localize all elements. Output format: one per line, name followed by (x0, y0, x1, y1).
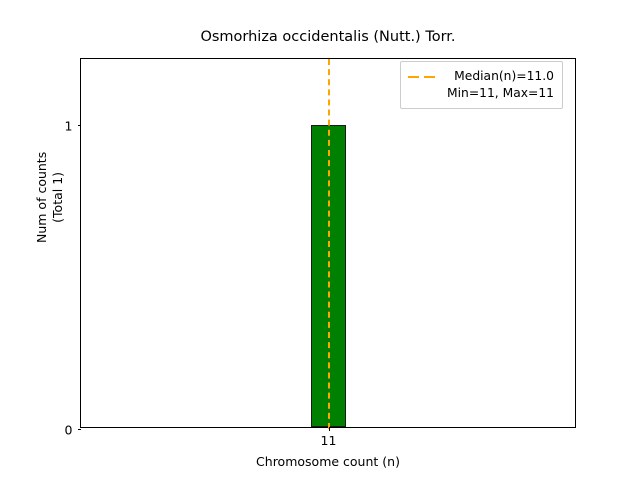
ytick-mark-0: 0 (78, 429, 82, 430)
xtick-label-11: 11 (321, 433, 337, 448)
xtick-mark-11 (329, 427, 330, 431)
chart-title: Osmorhiza occidentalis (Nutt.) Torr. (80, 29, 576, 45)
plot-area: 0 1 11 (80, 58, 576, 428)
legend-median-line-swatch (408, 69, 440, 85)
y-axis-label-line2: (Total 1) (50, 152, 66, 243)
y-axis-label: Num of counts (Total 1) (34, 152, 66, 243)
ytick-label-0: 0 (65, 423, 73, 438)
legend-entry-median: Median(n)=11.0 (447, 68, 554, 85)
legend-text: Median(n)=11.0 Min=11, Max=11 (447, 68, 554, 102)
y-axis-label-line1: Num of counts (34, 152, 50, 243)
chart-figure: Osmorhiza occidentalis (Nutt.) Torr. 0 1… (0, 0, 640, 480)
x-axis-label: Chromosome count (n) (80, 454, 576, 469)
legend-entry-minmax: Min=11, Max=11 (447, 85, 554, 102)
ytick-mark-1: 1 (78, 125, 82, 126)
ytick-label-1: 1 (65, 119, 73, 134)
median-line (328, 59, 330, 429)
legend: Median(n)=11.0 Min=11, Max=11 (400, 61, 563, 109)
